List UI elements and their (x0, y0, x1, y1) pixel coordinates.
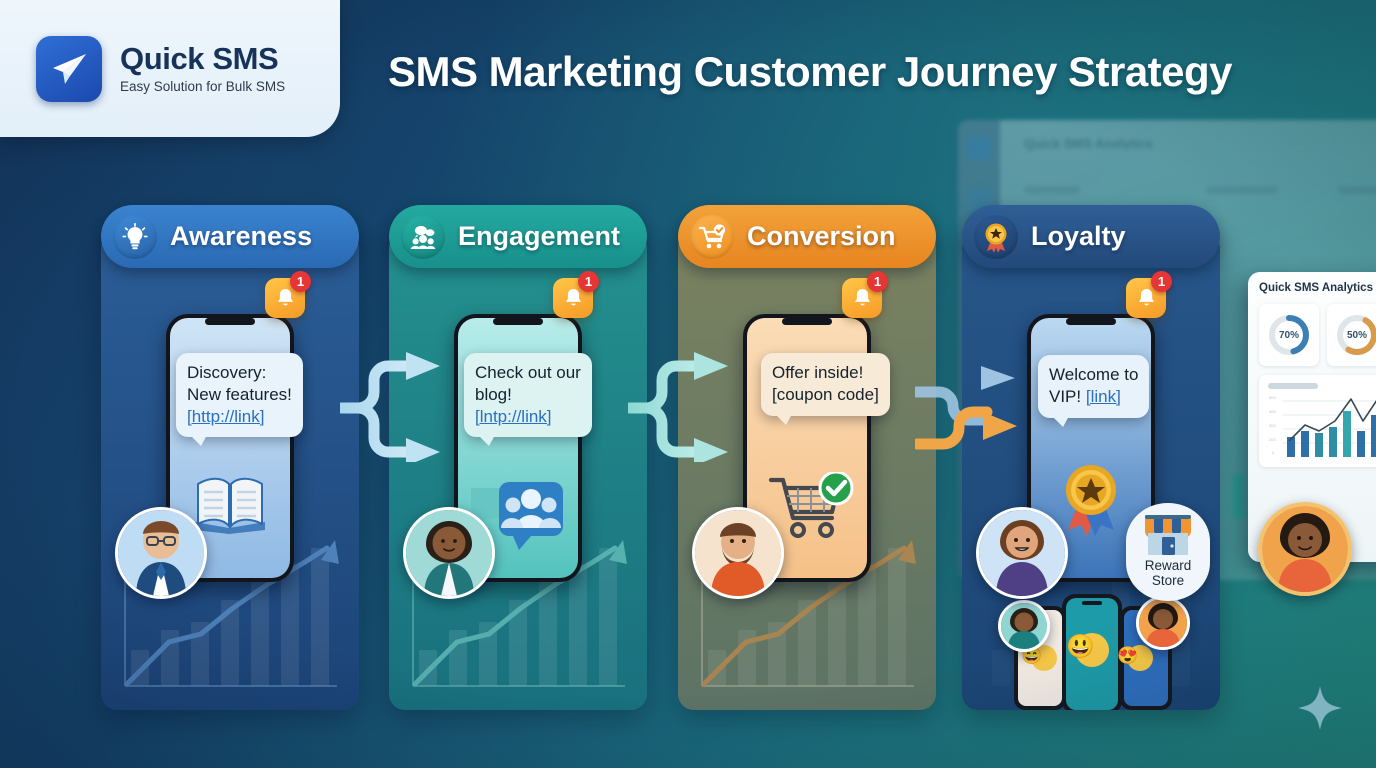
stage-conversion: Conversion 1 Offer inside! [coupon code] (678, 205, 936, 268)
notification-bell-engagement: 1 (553, 278, 593, 318)
people-chat-icon (401, 215, 445, 259)
avatar-loyalty-device-left (998, 600, 1050, 652)
notification-bell-awareness: 1 (265, 278, 305, 318)
sms-link[interactable]: [http://link] (187, 406, 292, 428)
avatar-engagement (403, 507, 495, 599)
stage-loyalty: 😄 😃 😍 (962, 205, 1220, 268)
sms-line-2-text: VIP! (1049, 387, 1081, 406)
svg-text:500: 500 (1269, 395, 1276, 400)
avatar-loyalty (976, 507, 1068, 599)
reward-store-line-2: Store (1152, 574, 1184, 589)
stage-label-loyalty: Loyalty (1031, 221, 1126, 252)
svg-text:400: 400 (1269, 409, 1276, 414)
brand-tagline: Easy Solution for Bulk SMS (120, 79, 285, 94)
background-dashboard-title: Quick SMS Analytics (1024, 136, 1153, 151)
avatar-conversion (692, 507, 784, 599)
gold-medal-icon (1056, 460, 1126, 545)
analytics-kpi-2: 50% (1327, 304, 1376, 366)
lightbulb-icon (113, 215, 157, 259)
notification-bell-loyalty: 1 (1126, 278, 1166, 318)
sms-line-1: Offer inside! (772, 362, 879, 384)
paper-plane-icon (36, 36, 102, 102)
stage-card-conversion (678, 232, 936, 710)
sms-bubble-engagement: Check out our blog! [lntp://link] (464, 353, 592, 437)
stage-engagement: Engagement 1 Check out our blog! [lntp:/… (389, 205, 647, 268)
cart-check-icon (690, 215, 734, 259)
svg-text:0: 0 (1272, 450, 1275, 455)
sms-bubble-conversion: Offer inside! [coupon code] (761, 353, 890, 416)
stage-label-conversion: Conversion (747, 221, 896, 252)
sms-line-2: New features! (187, 384, 292, 406)
notification-count-loyalty: 1 (1151, 271, 1172, 292)
stage-card-awareness (101, 232, 359, 710)
phone-notch (493, 318, 543, 325)
sms-bubble-awareness: Discovery: New features! [http://link] (176, 353, 303, 437)
sms-line-2: [coupon code] (772, 384, 879, 406)
stage-card-loyalty: 😄 😃 😍 (962, 232, 1220, 710)
award-medal-icon (974, 215, 1018, 259)
brand-logo-panel[interactable]: Quick SMS Easy Solution for Bulk SMS (0, 0, 340, 137)
analytics-kpi-1-value: 70% (1279, 330, 1299, 341)
background-dashboard-label-2 (1206, 186, 1278, 194)
svg-text:200: 200 (1269, 437, 1276, 442)
sms-line-2: blog! (475, 384, 581, 406)
infographic-canvas: Quick SMS Analytics (0, 0, 1376, 768)
avatar-awareness (115, 507, 207, 599)
storefront-icon (1140, 511, 1196, 557)
stage-card-engagement (389, 232, 647, 710)
stage-pill-conversion[interactable]: Conversion (678, 205, 936, 268)
avatar-analytics-user (1258, 502, 1352, 596)
emoji-reaction-2: 😃 (1066, 633, 1095, 660)
analytics-chart-title-placeholder (1268, 383, 1318, 389)
analytics-kpi-row: 70% 50% (1259, 304, 1376, 366)
phone-notch (205, 318, 255, 325)
notification-count-awareness: 1 (290, 271, 311, 292)
analytics-trend-chart: 500400 3002000 (1259, 375, 1376, 467)
open-book-icon (193, 472, 267, 539)
brand-name: Quick SMS (120, 43, 285, 76)
sms-line-1: Check out our (475, 362, 581, 384)
background-dashboard-label-1 (1024, 186, 1080, 194)
background-chart-bar (1232, 474, 1244, 518)
notification-count-engagement: 1 (578, 271, 599, 292)
phone-notch (1066, 318, 1116, 325)
sparkle-icon (1296, 684, 1344, 732)
stage-awareness: Awareness 1 Discovery: New features! [ht… (101, 205, 359, 268)
emoji-reaction-3: 😍 (1117, 646, 1138, 666)
notification-bell-conversion: 1 (842, 278, 882, 318)
stage-pill-engagement[interactable]: Engagement (389, 205, 647, 268)
sms-bubble-loyalty: Welcome to VIP! [link] (1038, 355, 1149, 418)
sms-line-1: Discovery: (187, 362, 292, 384)
stage-label-engagement: Engagement (458, 221, 620, 252)
brand-text: Quick SMS Easy Solution for Bulk SMS (120, 43, 285, 95)
avatar-loyalty-device-right (1136, 596, 1190, 650)
background-dashboard-label-3 (1338, 186, 1376, 194)
phone-notch (782, 318, 832, 325)
reward-store-line-1: Reward (1145, 559, 1192, 574)
sms-line-2: VIP! [link] (1049, 386, 1138, 408)
svg-text:300: 300 (1269, 423, 1276, 428)
sms-link[interactable]: [link] (1086, 387, 1121, 406)
sms-line-1: Welcome to (1049, 364, 1138, 386)
analytics-kpi-2-value: 50% (1347, 330, 1367, 341)
stage-label-awareness: Awareness (170, 221, 312, 252)
sms-link[interactable]: [lntp://link] (475, 406, 581, 428)
stage-pill-loyalty[interactable]: Loyalty (962, 205, 1220, 268)
analytics-kpi-1: 70% (1259, 304, 1319, 366)
analytics-title: Quick SMS Analytics (1259, 282, 1376, 294)
page-title: SMS Marketing Customer Journey Strategy (388, 48, 1338, 96)
notification-count-conversion: 1 (867, 271, 888, 292)
stage-pill-awareness[interactable]: Awareness (101, 205, 359, 268)
background-rail-button-1 (967, 136, 991, 160)
reward-store-badge[interactable]: Reward Store (1126, 503, 1210, 601)
